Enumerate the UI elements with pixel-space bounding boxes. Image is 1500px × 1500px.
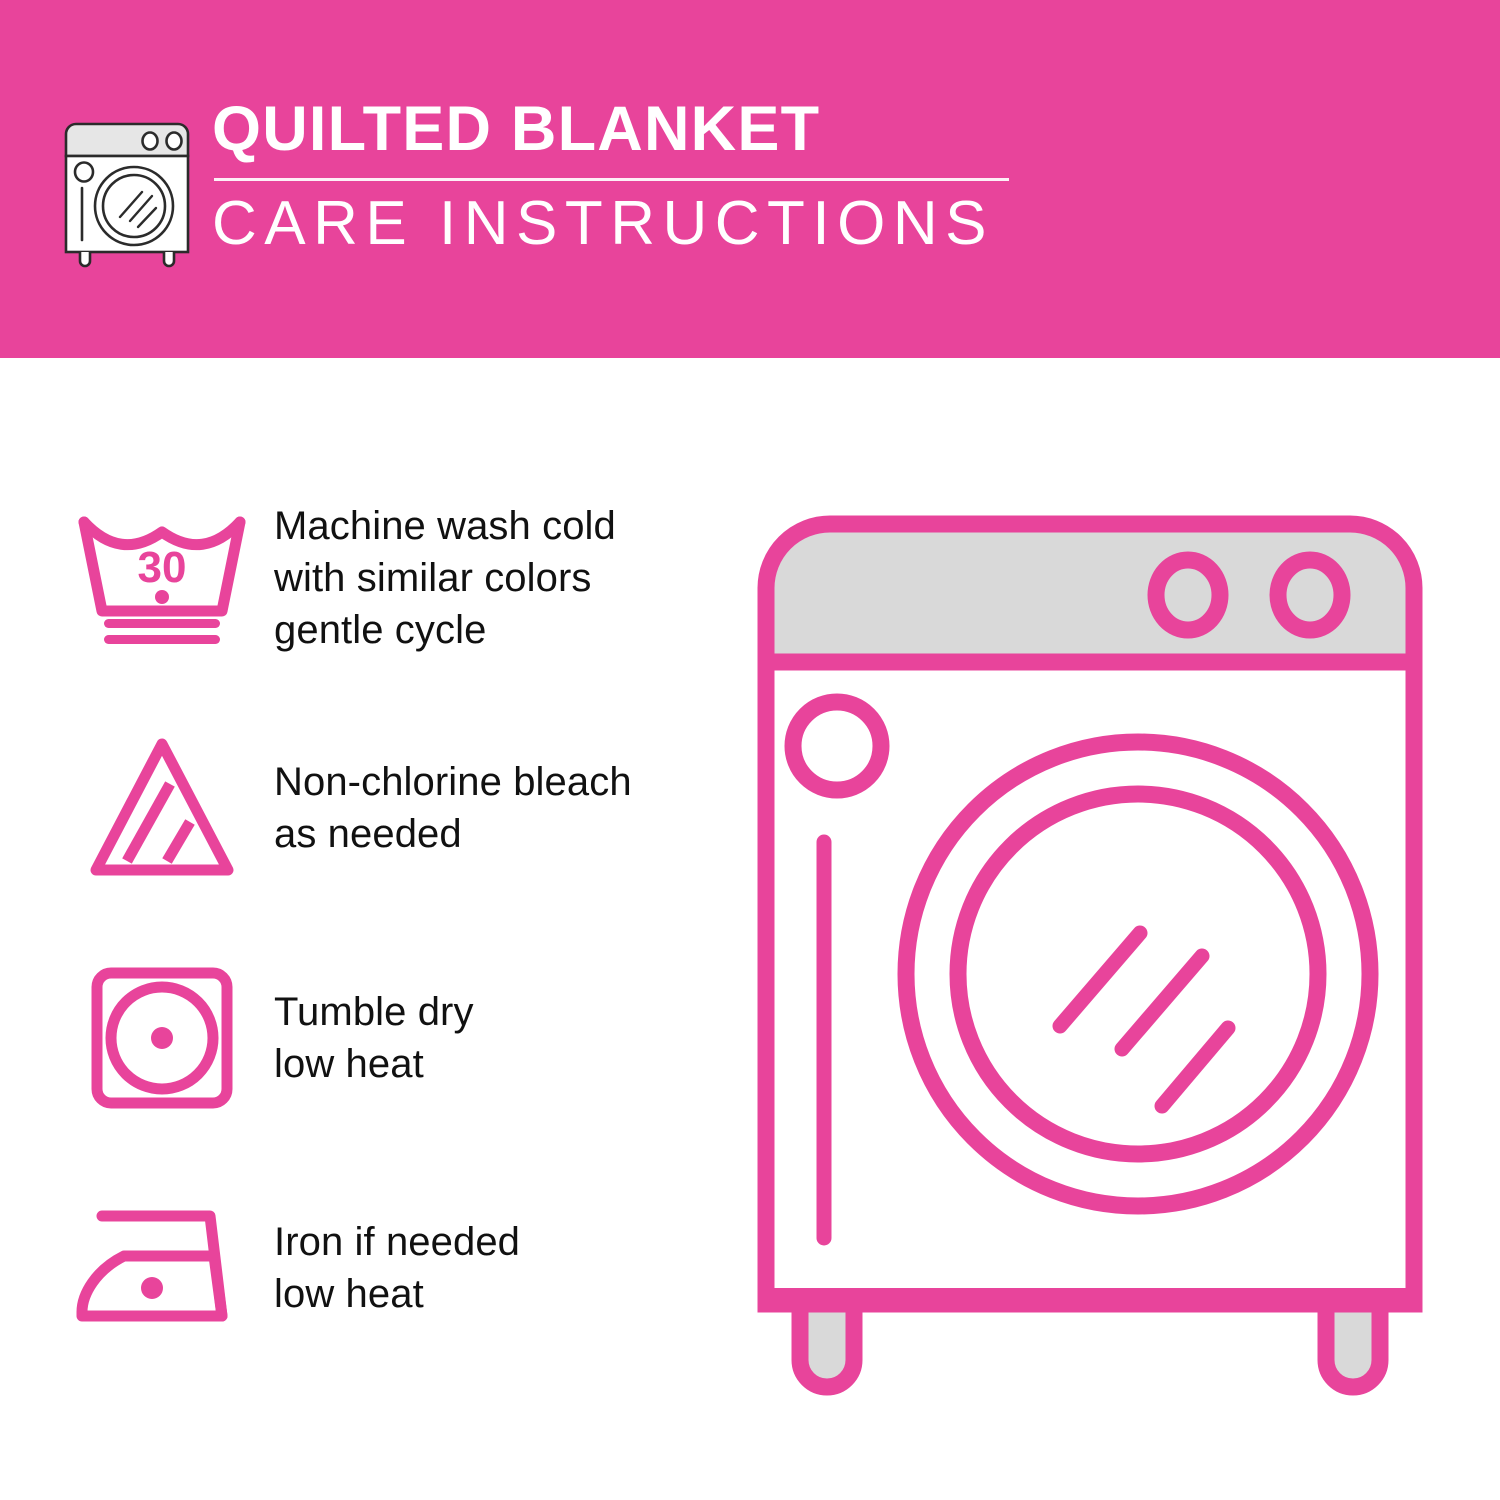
indicator-circle [793,702,881,790]
washing-machine-illustration [740,498,1440,1418]
knob-left [1156,560,1220,630]
header-band: QUILTED BLANKET CARE INSTRUCTIONS [0,0,1500,358]
drum-inner-ring [958,794,1318,1154]
care-line: Machine wash cold [274,500,722,552]
knob-right [1278,560,1342,630]
care-line: low heat [274,1038,722,1090]
wash-temperature-label: 30 [138,543,187,592]
header-titles: QUILTED BLANKET CARE INSTRUCTIONS [212,96,1062,255]
page-subtitle: CARE INSTRUCTIONS [212,193,1062,255]
care-line: Iron if needed [274,1216,722,1268]
non-chlorine-bleach-triangle-icon [62,728,262,888]
tumble-dry-low-icon [62,958,262,1118]
main-content: 30 Machine wash cold with similar colors… [0,358,1500,1500]
care-text-tumble-dry: Tumble dry low heat [262,986,722,1090]
care-text-iron: Iron if needed low heat [262,1216,722,1320]
care-row-machine-wash: 30 Machine wash cold with similar colors… [62,498,722,658]
care-row-iron: Iron if needed low heat [62,1188,722,1348]
header-content: QUILTED BLANKET CARE INSTRUCTIONS [62,96,1062,276]
care-line: gentle cycle [274,604,722,656]
care-line: with similar colors [274,552,722,604]
wash-tub-30-icon: 30 [62,498,262,658]
iron-low-heat-icon [62,1188,262,1348]
leg-right [1326,1304,1380,1387]
leg-left [800,1304,854,1387]
title-divider [214,178,1009,181]
care-text-bleach: Non-chlorine bleach as needed [262,756,722,860]
washing-machine-icon [62,110,192,270]
care-text-machine-wash: Machine wash cold with similar colors ge… [262,500,722,656]
care-line: Non-chlorine bleach [274,756,722,808]
care-instructions-list: 30 Machine wash cold with similar colors… [62,498,722,1348]
care-row-tumble-dry: Tumble dry low heat [62,958,722,1118]
care-line: Tumble dry [274,986,722,1038]
page-title: QUILTED BLANKET [212,98,1062,161]
care-line: low heat [274,1268,722,1320]
care-row-bleach: Non-chlorine bleach as needed [62,728,722,888]
bottom-rail [766,1288,1414,1305]
care-line: as needed [274,808,722,860]
